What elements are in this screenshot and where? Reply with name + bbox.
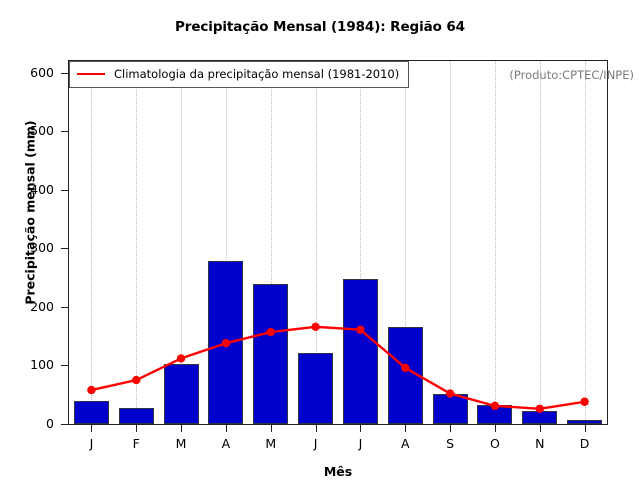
gridline (91, 61, 93, 424)
plot-inner (69, 61, 607, 424)
x-tick-label: N (525, 436, 555, 451)
chart-figure: Precipitação Mensal (1984): Região 64 Pr… (0, 0, 640, 500)
legend-line-icon (77, 73, 105, 75)
x-tick-mark (540, 425, 541, 432)
x-tick-mark (91, 425, 92, 432)
bar (298, 353, 333, 424)
y-tick-mark (61, 73, 68, 74)
x-tick-mark (360, 425, 361, 432)
y-tick-label: 300 (8, 240, 54, 255)
x-tick-label: D (570, 436, 600, 451)
bar (477, 405, 512, 424)
x-tick-mark (316, 425, 317, 432)
gridline (450, 61, 452, 424)
y-tick-label: 600 (8, 65, 54, 80)
x-tick-label: J (76, 436, 106, 451)
bar (119, 408, 154, 424)
bar (522, 411, 557, 424)
x-tick-label: M (166, 436, 196, 451)
x-tick-mark (450, 425, 451, 432)
y-axis-tick-labels: 0100200300400500600 (0, 0, 68, 500)
x-tick-label: S (435, 436, 465, 451)
plot-area (68, 60, 608, 425)
bar (74, 401, 109, 424)
producer-credit: (Produto:CPTEC/INPE) (509, 68, 634, 82)
page-title: Precipitação Mensal (1984): Região 64 (0, 19, 640, 35)
legend-entry-label: Climatologia da precipitação mensal (198… (114, 67, 399, 81)
bar (433, 394, 468, 424)
y-tick-mark (61, 365, 68, 366)
x-tick-label: O (480, 436, 510, 451)
x-tick-mark (181, 425, 182, 432)
bar (567, 420, 602, 424)
x-tick-label: A (390, 436, 420, 451)
bar (208, 261, 243, 424)
y-tick-label: 200 (8, 299, 54, 314)
x-axis-title: Mês (68, 464, 608, 479)
x-tick-label: M (256, 436, 286, 451)
gridline (585, 61, 587, 424)
y-tick-label: 0 (8, 416, 54, 431)
gridline (495, 61, 497, 424)
bar (164, 364, 199, 424)
bar (343, 279, 378, 424)
x-tick-label: F (121, 436, 151, 451)
y-tick-label: 500 (8, 123, 54, 138)
y-tick-mark (61, 424, 68, 425)
gridline (540, 61, 542, 424)
y-tick-mark (61, 307, 68, 308)
x-tick-mark (271, 425, 272, 432)
climatology-line-series (69, 61, 607, 424)
x-tick-mark (405, 425, 406, 432)
x-tick-mark (136, 425, 137, 432)
x-tick-mark (495, 425, 496, 432)
bar (388, 327, 423, 424)
y-tick-label: 400 (8, 182, 54, 197)
x-tick-label: J (301, 436, 331, 451)
y-tick-mark (61, 190, 68, 191)
bar (253, 284, 288, 424)
x-tick-label: J (345, 436, 375, 451)
x-tick-mark (585, 425, 586, 432)
gridline (136, 61, 138, 424)
y-tick-mark (61, 131, 68, 132)
y-tick-mark (61, 248, 68, 249)
legend: Climatologia da precipitação mensal (198… (69, 61, 409, 88)
y-tick-label: 100 (8, 357, 54, 372)
x-tick-label: A (211, 436, 241, 451)
x-tick-mark (226, 425, 227, 432)
